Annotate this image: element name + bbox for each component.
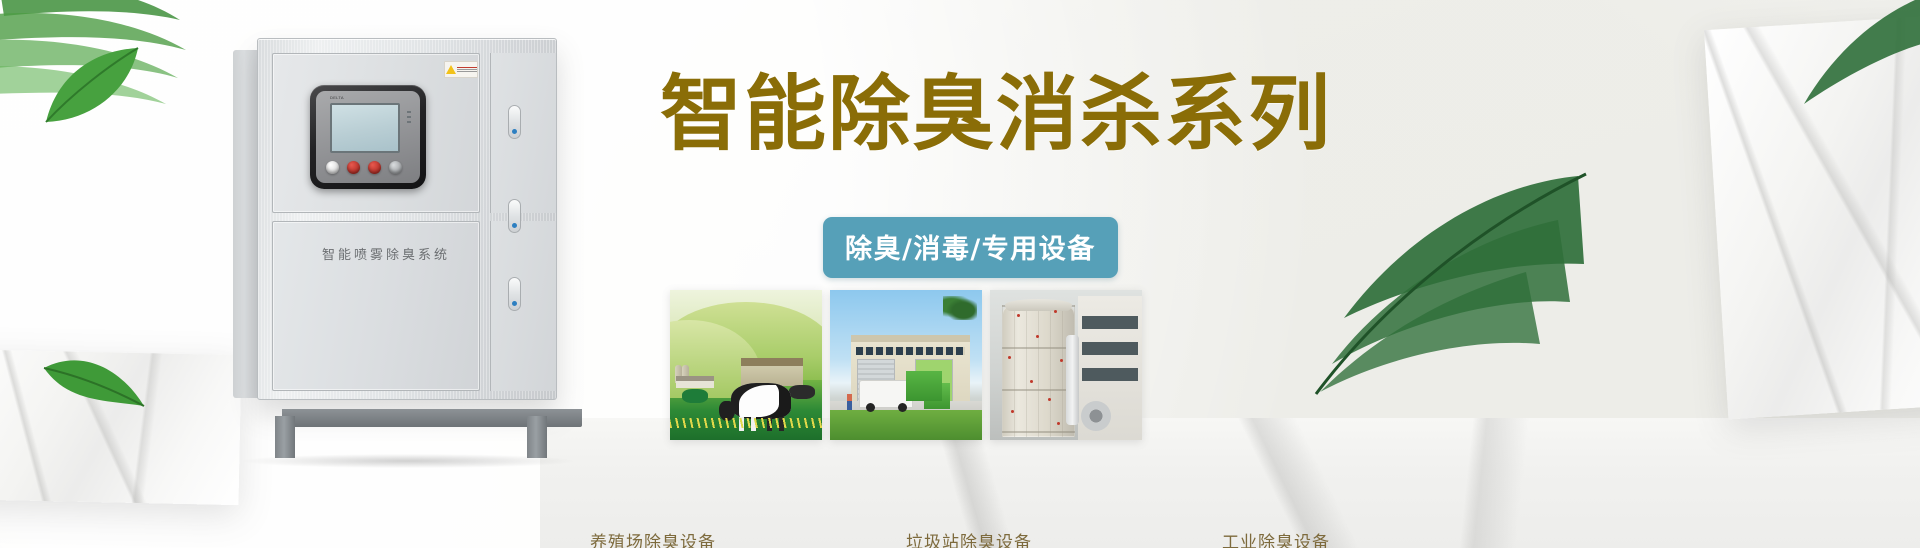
stop-red-button[interactable] bbox=[347, 161, 360, 174]
power-white-button[interactable] bbox=[326, 161, 339, 174]
hmi-control-panel[interactable]: DELTA bbox=[310, 85, 426, 189]
distant-cow-shape bbox=[682, 389, 708, 403]
machine-name-label: 智能喷雾除臭系统 bbox=[306, 244, 466, 263]
palm-leaf-top-left-icon bbox=[0, 0, 240, 130]
thumbnail-dairy-farm[interactable] bbox=[670, 290, 822, 440]
cabinet-body: DELTA 智能喷雾除臭系统 bbox=[257, 38, 557, 400]
hmi-indicator-leds bbox=[407, 111, 411, 126]
thumbnail-waste-transfer-station[interactable] bbox=[830, 290, 982, 440]
banner-subtitle-badge: 除臭/消毒/专用设备 bbox=[823, 217, 1118, 278]
banana-leaf-right-icon bbox=[1258, 168, 1588, 398]
warning-sticker bbox=[444, 61, 478, 78]
caption-waste-station: 垃圾站除臭设备 bbox=[906, 528, 1032, 548]
distant-cow-shape bbox=[789, 385, 815, 399]
selector-knob[interactable] bbox=[389, 161, 402, 174]
spray-deodorization-machine: DELTA 智能喷雾除臭系统 bbox=[233, 30, 573, 432]
control-button-row bbox=[326, 161, 402, 174]
product-banner: DELTA 智能喷雾除臭系统 智能除臭消杀系列 bbox=[0, 0, 1920, 548]
start-red-button[interactable] bbox=[368, 161, 381, 174]
hmi-touchscreen[interactable] bbox=[330, 103, 400, 153]
tree-shape bbox=[943, 296, 977, 320]
cabinet-right-upper-door bbox=[490, 53, 556, 213]
fence-shape bbox=[670, 418, 822, 428]
tower-marker-dots bbox=[990, 290, 1142, 440]
cabinet-handle-upper-right[interactable] bbox=[508, 105, 521, 139]
cabinet-handle-middle-right[interactable] bbox=[508, 199, 521, 233]
application-thumbnail-row bbox=[670, 290, 1142, 440]
lawn-shape bbox=[830, 410, 982, 440]
grazing-cow-shape bbox=[731, 383, 791, 419]
barn-shape bbox=[741, 358, 803, 386]
marble-slab-bottom-left bbox=[0, 349, 242, 505]
banner-headline: 智能除臭消杀系列 bbox=[660, 74, 1340, 156]
marble-slab-right bbox=[1704, 15, 1920, 420]
warning-triangle-icon bbox=[446, 65, 456, 74]
person-shape bbox=[847, 394, 852, 410]
green-leaf-upper-left-icon bbox=[38, 44, 148, 134]
machine-leg-left bbox=[275, 416, 295, 458]
hmi-faceplate: DELTA bbox=[316, 91, 420, 183]
caption-industrial: 工业除臭设备 bbox=[1222, 528, 1330, 548]
garbage-truck-shape bbox=[859, 380, 913, 408]
small-barn-shape bbox=[676, 376, 714, 388]
hmi-brand-label: DELTA bbox=[330, 95, 344, 100]
machine-leg-right bbox=[527, 416, 547, 458]
warning-text-lines bbox=[456, 66, 477, 73]
cabinet-right-lower-door bbox=[490, 221, 556, 391]
caption-dairy-farm: 养殖场除臭设备 bbox=[590, 528, 716, 548]
thumbnail-deodorization-tower[interactable] bbox=[990, 290, 1142, 440]
cabinet-handle-lower-right[interactable] bbox=[508, 277, 521, 311]
application-caption-row: 养殖场除臭设备 垃圾站除臭设备 工业除臭设备 bbox=[0, 528, 1920, 548]
